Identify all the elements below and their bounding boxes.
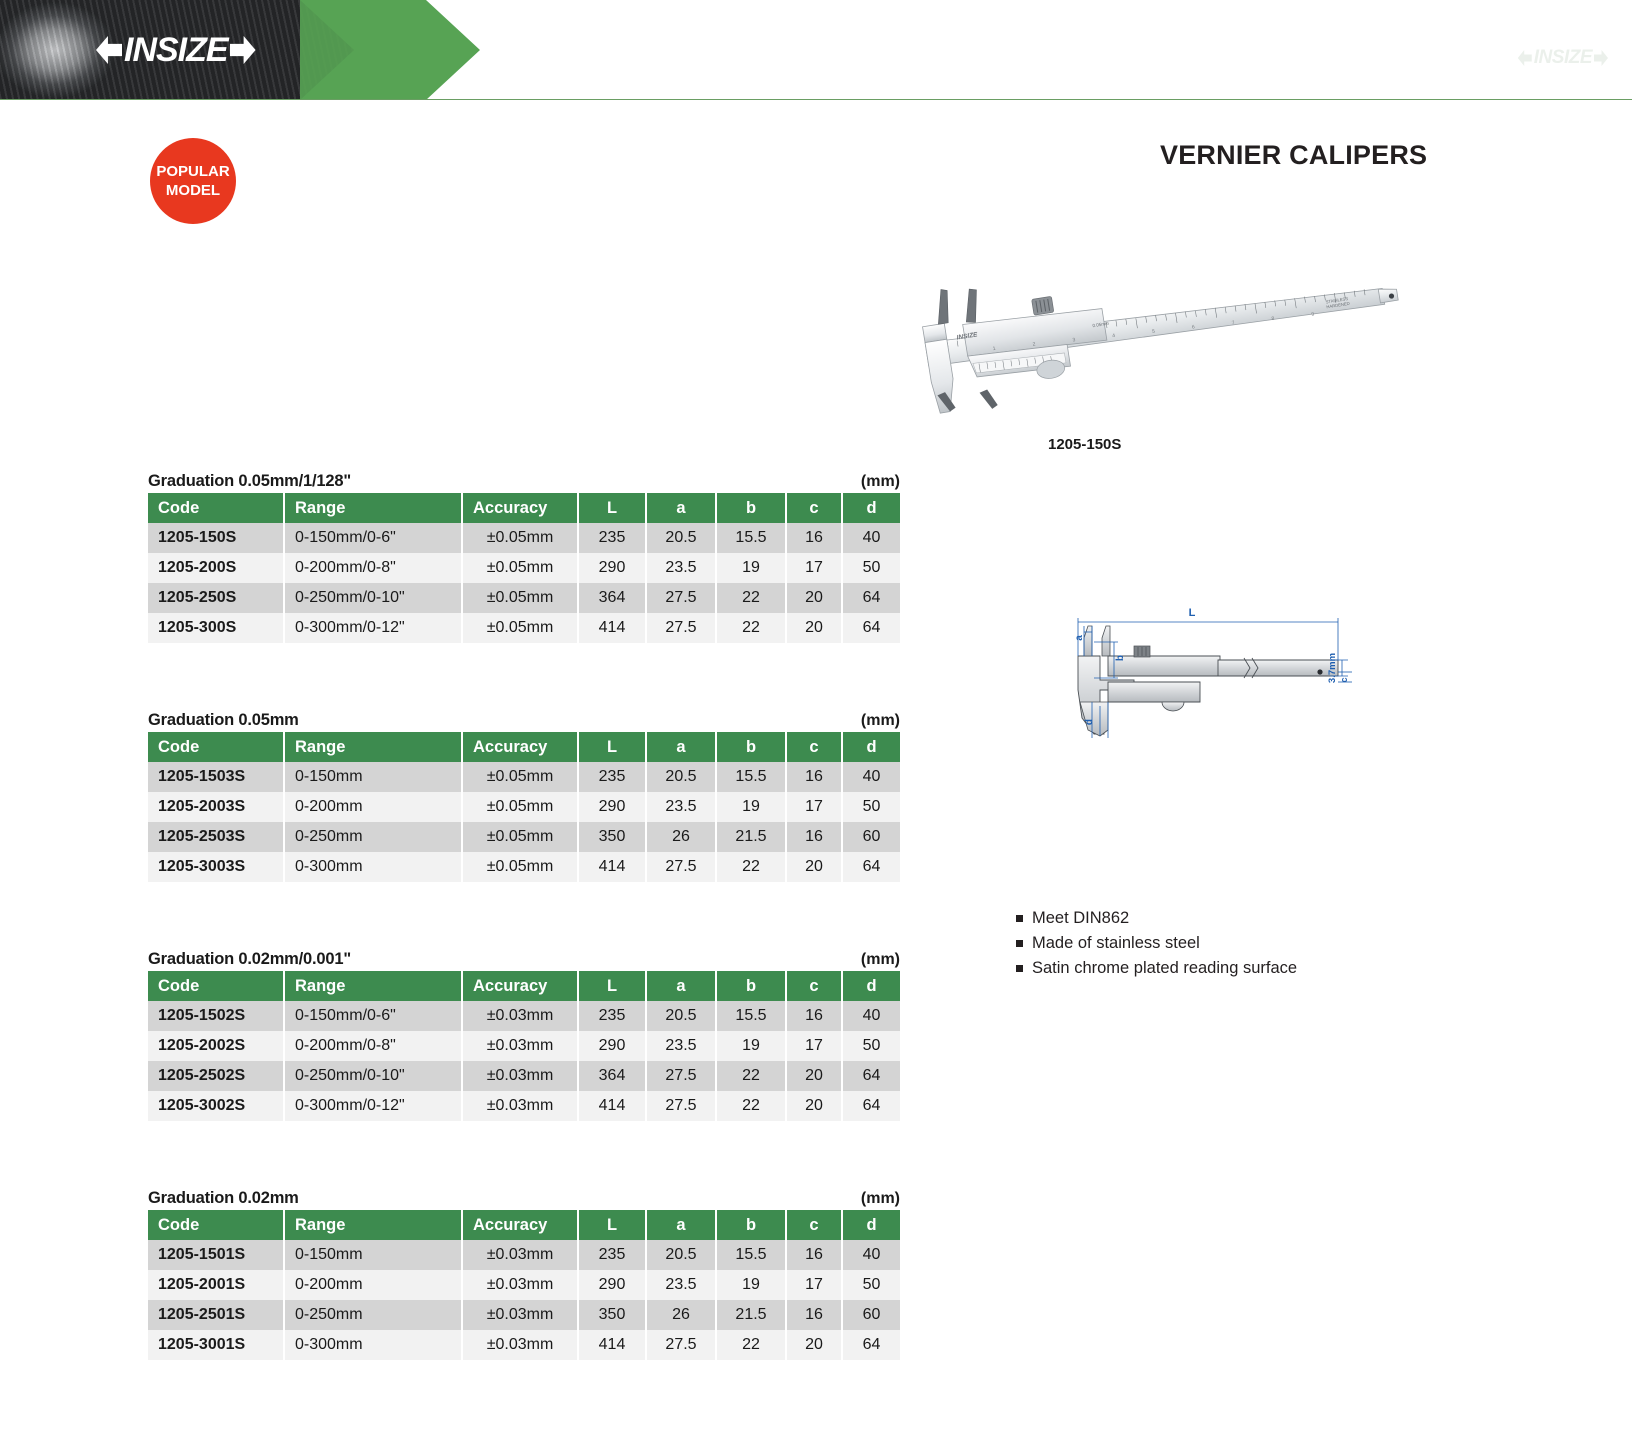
col-header-d: d xyxy=(842,1210,900,1240)
cell-b: 15.5 xyxy=(716,523,786,553)
badge-line-2: MODEL xyxy=(166,181,220,200)
cell-d: 50 xyxy=(842,1270,900,1300)
features-list: Meet DIN862 Made of stainless steel Sati… xyxy=(1016,906,1516,981)
cell-c: 17 xyxy=(786,553,842,583)
insize-logo: INSIZE xyxy=(96,36,256,64)
cell-accuracy: ±0.05mm xyxy=(462,583,578,613)
cell-l: 290 xyxy=(578,1270,646,1300)
col-header-b: b xyxy=(716,1210,786,1240)
table-header-row: Code Range Accuracy L a b c d xyxy=(148,493,900,523)
col-header-a: a xyxy=(646,732,716,762)
cell-d: 40 xyxy=(842,523,900,553)
cell-range: 0-250mm/0-10" xyxy=(284,583,462,613)
cell-c: 17 xyxy=(786,1270,842,1300)
cell-a: 27.5 xyxy=(646,1330,716,1360)
table-title: Graduation 0.05mm xyxy=(148,711,299,730)
cell-a: 26 xyxy=(646,1300,716,1330)
cell-b: 21.5 xyxy=(716,1300,786,1330)
cell-d: 64 xyxy=(842,1091,900,1121)
catalog-page: INSIZE INSIZE POPULAR MODEL VERNIER CALI… xyxy=(0,0,1632,1455)
cell-a: 23.5 xyxy=(646,1270,716,1300)
cell-a: 23.5 xyxy=(646,1031,716,1061)
cell-l: 290 xyxy=(578,553,646,583)
table-row: 1205-2001S 0-200mm ±0.03mm 290 23.5 19 1… xyxy=(148,1270,900,1300)
table-caption-row: Graduation 0.05mm (mm) xyxy=(148,711,900,730)
cell-l: 235 xyxy=(578,762,646,792)
table-row: 1205-1503S 0-150mm ±0.05mm 235 20.5 15.5… xyxy=(148,762,900,792)
table-caption-row: Graduation 0.02mm (mm) xyxy=(148,1189,900,1208)
cell-range: 0-250mm xyxy=(284,822,462,852)
cell-accuracy: ±0.03mm xyxy=(462,1091,578,1121)
col-header-l: L xyxy=(578,1210,646,1240)
feature-text: Meet DIN862 xyxy=(1032,906,1129,931)
cell-d: 64 xyxy=(842,1061,900,1091)
table-row: 1205-2002S 0-200mm/0-8" ±0.03mm 290 23.5… xyxy=(148,1031,900,1061)
cell-d: 64 xyxy=(842,1330,900,1360)
cell-range: 0-200mm/0-8" xyxy=(284,553,462,583)
cell-code: 1205-2502S xyxy=(148,1061,284,1091)
cell-c: 16 xyxy=(786,822,842,852)
cell-d: 64 xyxy=(842,583,900,613)
cell-range: 0-150mm xyxy=(284,762,462,792)
cell-accuracy: ±0.05mm xyxy=(462,553,578,583)
cell-l: 235 xyxy=(578,523,646,553)
table-unit-label: (mm) xyxy=(861,951,900,969)
cell-l: 364 xyxy=(578,583,646,613)
cell-d: 50 xyxy=(842,1031,900,1061)
svg-text:b: b xyxy=(1115,655,1126,661)
cell-code: 1205-300S xyxy=(148,613,284,643)
table-title: Graduation 0.02mm/0.001" xyxy=(148,950,351,969)
cell-a: 27.5 xyxy=(646,1061,716,1091)
cell-d: 50 xyxy=(842,792,900,822)
table-header-row: Code Range Accuracy L a b c d xyxy=(148,732,900,762)
spec-table: Code Range Accuracy L a b c d 1205-1503S… xyxy=(148,732,900,882)
cell-range: 0-150mm/0-6" xyxy=(284,523,462,553)
table-row: 1205-150S 0-150mm/0-6" ±0.05mm 235 20.5 … xyxy=(148,523,900,553)
cell-range: 0-150mm/0-6" xyxy=(284,1001,462,1031)
table-row: 1205-300S 0-300mm/0-12" ±0.05mm 414 27.5… xyxy=(148,613,900,643)
col-header-range: Range xyxy=(284,971,462,1001)
cell-range: 0-300mm/0-12" xyxy=(284,613,462,643)
table-row: 1205-1502S 0-150mm/0-6" ±0.03mm 235 20.5… xyxy=(148,1001,900,1031)
cell-accuracy: ±0.05mm xyxy=(462,822,578,852)
right-arrow-icon xyxy=(230,36,256,64)
dimension-drawing: L a b d c 3.7mm xyxy=(1022,598,1352,738)
col-header-d: d xyxy=(842,732,900,762)
col-header-a: a xyxy=(646,971,716,1001)
col-header-code: Code xyxy=(148,971,284,1001)
cell-range: 0-250mm xyxy=(284,1300,462,1330)
table-row: 1205-200S 0-200mm/0-8" ±0.05mm 290 23.5 … xyxy=(148,553,900,583)
cell-accuracy: ±0.05mm xyxy=(462,792,578,822)
cell-c: 20 xyxy=(786,1061,842,1091)
cell-a: 20.5 xyxy=(646,523,716,553)
left-arrow-icon xyxy=(96,36,122,64)
cell-range: 0-200mm/0-8" xyxy=(284,1031,462,1061)
cell-l: 414 xyxy=(578,1330,646,1360)
cell-code: 1205-1501S xyxy=(148,1240,284,1270)
table-caption-row: Graduation 0.05mm/1/128" (mm) xyxy=(148,472,900,491)
cell-range: 0-200mm xyxy=(284,1270,462,1300)
cell-code: 1205-200S xyxy=(148,553,284,583)
cell-b: 22 xyxy=(716,583,786,613)
cell-code: 1205-3003S xyxy=(148,852,284,882)
cell-c: 20 xyxy=(786,852,842,882)
cell-d: 40 xyxy=(842,1240,900,1270)
cell-l: 235 xyxy=(578,1001,646,1031)
cell-l: 414 xyxy=(578,1091,646,1121)
cell-a: 27.5 xyxy=(646,613,716,643)
cell-range: 0-250mm/0-10" xyxy=(284,1061,462,1091)
table-row: 1205-2003S 0-200mm ±0.05mm 290 23.5 19 1… xyxy=(148,792,900,822)
table-row: 1205-1501S 0-150mm ±0.03mm 235 20.5 15.5… xyxy=(148,1240,900,1270)
cell-range: 0-150mm xyxy=(284,1240,462,1270)
cell-code: 1205-2503S xyxy=(148,822,284,852)
spec-table: Code Range Accuracy L a b c d 1205-1501S… xyxy=(148,1210,900,1360)
cell-b: 19 xyxy=(716,1031,786,1061)
cell-d: 40 xyxy=(842,762,900,792)
spec-table-block-4: Graduation 0.02mm (mm) Code Range Accura… xyxy=(148,1189,900,1360)
popular-model-badge: POPULAR MODEL xyxy=(150,138,236,224)
col-header-c: c xyxy=(786,1210,842,1240)
cell-a: 20.5 xyxy=(646,1001,716,1031)
cell-accuracy: ±0.03mm xyxy=(462,1330,578,1360)
cell-a: 20.5 xyxy=(646,1240,716,1270)
cell-b: 21.5 xyxy=(716,822,786,852)
cell-l: 414 xyxy=(578,852,646,882)
svg-text:c: c xyxy=(1339,677,1349,682)
cell-b: 15.5 xyxy=(716,1001,786,1031)
col-header-a: a xyxy=(646,493,716,523)
feature-text: Made of stainless steel xyxy=(1032,931,1200,956)
col-header-d: d xyxy=(842,971,900,1001)
cell-code: 1205-250S xyxy=(148,583,284,613)
cell-c: 17 xyxy=(786,792,842,822)
insize-watermark-logo: INSIZE xyxy=(1518,50,1608,66)
cell-l: 235 xyxy=(578,1240,646,1270)
cell-l: 364 xyxy=(578,1061,646,1091)
svg-text:3.7mm: 3.7mm xyxy=(1327,653,1338,683)
cell-b: 19 xyxy=(716,553,786,583)
header-divider xyxy=(0,99,1632,100)
cell-accuracy: ±0.05mm xyxy=(462,613,578,643)
col-header-b: b xyxy=(716,971,786,1001)
cell-code: 1205-2501S xyxy=(148,1300,284,1330)
cell-d: 60 xyxy=(842,1300,900,1330)
table-row: 1205-3003S 0-300mm ±0.05mm 414 27.5 22 2… xyxy=(148,852,900,882)
cell-l: 290 xyxy=(578,792,646,822)
spec-table-block-1: Graduation 0.05mm/1/128" (mm) Code Range… xyxy=(148,472,900,643)
square-bullet-icon xyxy=(1016,940,1023,947)
svg-text:L: L xyxy=(1189,607,1196,619)
table-title: Graduation 0.02mm xyxy=(148,1189,299,1208)
col-header-l: L xyxy=(578,732,646,762)
cell-c: 20 xyxy=(786,613,842,643)
watermark-right-arrow-icon xyxy=(1594,50,1608,66)
cell-b: 15.5 xyxy=(716,762,786,792)
col-header-code: Code xyxy=(148,1210,284,1240)
cell-code: 1205-2002S xyxy=(148,1031,284,1061)
cell-c: 17 xyxy=(786,1031,842,1061)
cell-code: 1205-150S xyxy=(148,523,284,553)
col-header-b: b xyxy=(716,732,786,762)
cell-a: 26 xyxy=(646,822,716,852)
cell-code: 1205-2001S xyxy=(148,1270,284,1300)
table-header-row: Code Range Accuracy L a b c d xyxy=(148,971,900,1001)
cell-c: 16 xyxy=(786,762,842,792)
cell-accuracy: ±0.05mm xyxy=(462,852,578,882)
cell-code: 1205-3001S xyxy=(148,1330,284,1360)
table-caption-row: Graduation 0.02mm/0.001" (mm) xyxy=(148,950,900,969)
col-header-code: Code xyxy=(148,493,284,523)
page-header: INSIZE INSIZE xyxy=(0,0,1632,100)
col-header-c: c xyxy=(786,732,842,762)
cell-d: 50 xyxy=(842,553,900,583)
col-header-range: Range xyxy=(284,732,462,762)
cell-d: 64 xyxy=(842,613,900,643)
col-header-l: L xyxy=(578,971,646,1001)
product-photo: INSIZE 0.05mm STAINLESS HARDENED 123 456… xyxy=(865,230,1425,420)
cell-l: 290 xyxy=(578,1031,646,1061)
col-header-range: Range xyxy=(284,493,462,523)
table-row: 1205-250S 0-250mm/0-10" ±0.05mm 364 27.5… xyxy=(148,583,900,613)
col-header-l: L xyxy=(578,493,646,523)
cell-b: 22 xyxy=(716,852,786,882)
svg-text:a: a xyxy=(1074,635,1085,641)
cell-range: 0-300mm/0-12" xyxy=(284,1091,462,1121)
col-header-accuracy: Accuracy xyxy=(462,493,578,523)
product-caption: 1205-150S xyxy=(1048,436,1121,453)
cell-accuracy: ±0.03mm xyxy=(462,1001,578,1031)
cell-range: 0-300mm xyxy=(284,1330,462,1360)
cell-l: 350 xyxy=(578,822,646,852)
logo-text: INSIZE xyxy=(124,36,228,64)
cell-b: 22 xyxy=(716,613,786,643)
table-unit-label: (mm) xyxy=(861,712,900,730)
cell-b: 22 xyxy=(716,1061,786,1091)
col-header-c: c xyxy=(786,971,842,1001)
cell-b: 19 xyxy=(716,1270,786,1300)
list-item: Made of stainless steel xyxy=(1016,931,1516,956)
cell-c: 20 xyxy=(786,1091,842,1121)
cell-b: 22 xyxy=(716,1091,786,1121)
cell-a: 27.5 xyxy=(646,852,716,882)
watermark-left-arrow-icon xyxy=(1518,50,1532,66)
cell-range: 0-300mm xyxy=(284,852,462,882)
cell-accuracy: ±0.03mm xyxy=(462,1061,578,1091)
cell-code: 1205-3002S xyxy=(148,1091,284,1121)
table-row: 1205-3002S 0-300mm/0-12" ±0.03mm 414 27.… xyxy=(148,1091,900,1121)
col-header-accuracy: Accuracy xyxy=(462,1210,578,1240)
spec-table: Code Range Accuracy L a b c d 1205-1502S… xyxy=(148,971,900,1121)
list-item: Meet DIN862 xyxy=(1016,906,1516,931)
badge-line-1: POPULAR xyxy=(156,162,229,181)
cell-accuracy: ±0.05mm xyxy=(462,762,578,792)
cell-a: 27.5 xyxy=(646,583,716,613)
table-row: 1205-2501S 0-250mm ±0.03mm 350 26 21.5 1… xyxy=(148,1300,900,1330)
table-unit-label: (mm) xyxy=(861,1190,900,1208)
page-title: VERNIER CALIPERS xyxy=(1160,140,1427,171)
cell-l: 414 xyxy=(578,613,646,643)
cell-accuracy: ±0.03mm xyxy=(462,1240,578,1270)
cell-d: 64 xyxy=(842,852,900,882)
cell-code: 1205-2003S xyxy=(148,792,284,822)
col-header-d: d xyxy=(842,493,900,523)
cell-d: 60 xyxy=(842,822,900,852)
feature-text: Satin chrome plated reading surface xyxy=(1032,956,1297,981)
cell-c: 20 xyxy=(786,583,842,613)
col-header-code: Code xyxy=(148,732,284,762)
square-bullet-icon xyxy=(1016,965,1023,972)
cell-c: 20 xyxy=(786,1330,842,1360)
spec-table-block-3: Graduation 0.02mm/0.001" (mm) Code Range… xyxy=(148,950,900,1121)
col-header-range: Range xyxy=(284,1210,462,1240)
table-row: 1205-3001S 0-300mm ±0.03mm 414 27.5 22 2… xyxy=(148,1330,900,1360)
cell-c: 16 xyxy=(786,1300,842,1330)
cell-c: 16 xyxy=(786,523,842,553)
table-unit-label: (mm) xyxy=(861,473,900,491)
cell-c: 16 xyxy=(786,1001,842,1031)
cell-a: 27.5 xyxy=(646,1091,716,1121)
cell-accuracy: ±0.03mm xyxy=(462,1270,578,1300)
cell-d: 40 xyxy=(842,1001,900,1031)
cell-a: 20.5 xyxy=(646,762,716,792)
col-header-b: b xyxy=(716,493,786,523)
cell-a: 23.5 xyxy=(646,792,716,822)
square-bullet-icon xyxy=(1016,915,1023,922)
spec-table-block-2: Graduation 0.05mm (mm) Code Range Accura… xyxy=(148,711,900,882)
col-header-c: c xyxy=(786,493,842,523)
table-row: 1205-2503S 0-250mm ±0.05mm 350 26 21.5 1… xyxy=(148,822,900,852)
svg-text:d: d xyxy=(1084,719,1095,725)
list-item: Satin chrome plated reading surface xyxy=(1016,956,1516,981)
table-header-row: Code Range Accuracy L a b c d xyxy=(148,1210,900,1240)
cell-b: 22 xyxy=(716,1330,786,1360)
cell-code: 1205-1502S xyxy=(148,1001,284,1031)
watermark-text: INSIZE xyxy=(1534,50,1592,66)
col-header-accuracy: Accuracy xyxy=(462,732,578,762)
cell-code: 1205-1503S xyxy=(148,762,284,792)
table-title: Graduation 0.05mm/1/128" xyxy=(148,472,351,491)
cell-accuracy: ±0.03mm xyxy=(462,1300,578,1330)
col-header-a: a xyxy=(646,1210,716,1240)
spec-table: Code Range Accuracy L a b c d 1205-150S … xyxy=(148,493,900,643)
cell-c: 16 xyxy=(786,1240,842,1270)
cell-l: 350 xyxy=(578,1300,646,1330)
table-row: 1205-2502S 0-250mm/0-10" ±0.03mm 364 27.… xyxy=(148,1061,900,1091)
cell-b: 15.5 xyxy=(716,1240,786,1270)
cell-b: 19 xyxy=(716,792,786,822)
col-header-accuracy: Accuracy xyxy=(462,971,578,1001)
cell-accuracy: ±0.05mm xyxy=(462,523,578,553)
cell-range: 0-200mm xyxy=(284,792,462,822)
cell-a: 23.5 xyxy=(646,553,716,583)
cell-accuracy: ±0.03mm xyxy=(462,1031,578,1061)
